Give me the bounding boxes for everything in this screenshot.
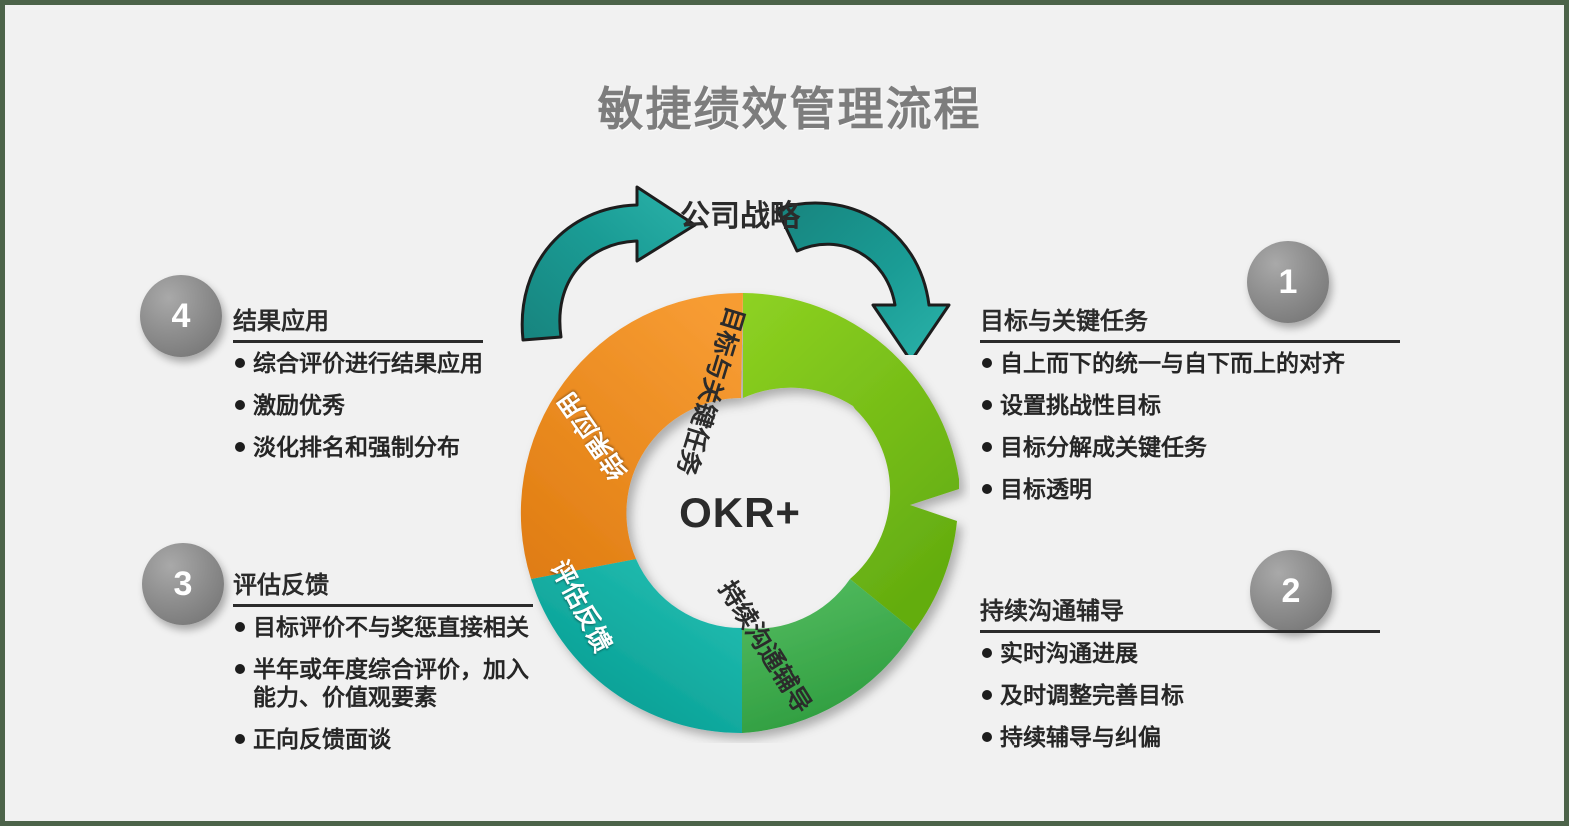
list-item: 设置挑战性目标 bbox=[980, 391, 1400, 419]
bullet-list-application: 综合评价进行结果应用 激励优秀 淡化排名和强制分布 bbox=[233, 349, 483, 461]
list-item: 实时沟通进展 bbox=[980, 639, 1380, 667]
list-item: 目标分解成关键任务 bbox=[980, 433, 1400, 461]
section-communication: 持续沟通辅导 实时沟通进展 及时调整完善目标 持续辅导与纠偏 bbox=[980, 591, 1380, 765]
list-item: 持续辅导与纠偏 bbox=[980, 723, 1380, 751]
bullet-list-communication: 实时沟通进展 及时调整完善目标 持续辅导与纠偏 bbox=[980, 639, 1380, 751]
slide-canvas: 敏捷绩效管理流程 bbox=[0, 0, 1569, 826]
bullet-list-objectives: 自上而下的统一与自下而上的对齐 设置挑战性目标 目标分解成关键任务 目标透明 bbox=[980, 349, 1400, 503]
section-heading-objectives: 目标与关键任务 bbox=[980, 301, 1400, 343]
strategy-label: 公司战略 bbox=[605, 191, 875, 235]
list-item: 自上而下的统一与自下而上的对齐 bbox=[980, 349, 1400, 377]
list-item: 目标评价不与奖惩直接相关 bbox=[233, 613, 533, 641]
section-application: 结果应用 综合评价进行结果应用 激励优秀 淡化排名和强制分布 bbox=[233, 301, 483, 475]
list-item: 淡化排名和强制分布 bbox=[233, 433, 483, 461]
list-item: 激励优秀 bbox=[233, 391, 483, 419]
step-number-badge-4: 4 bbox=[140, 275, 222, 357]
section-heading-evaluation: 评估反馈 bbox=[233, 565, 533, 607]
page-title: 敏捷绩效管理流程 bbox=[5, 73, 1569, 139]
section-evaluation: 评估反馈 目标评价不与奖惩直接相关 半年或年度综合评价，加入能力、价值观要素 正… bbox=[233, 565, 533, 767]
section-heading-application: 结果应用 bbox=[233, 301, 483, 343]
okr-cycle-wheel: OKR+ 目标与关键任务 持续沟通辅导 评估反馈 结果应用 bbox=[510, 283, 970, 743]
section-objectives: 目标与关键任务 自上而下的统一与自下而上的对齐 设置挑战性目标 目标分解成关键任… bbox=[980, 301, 1400, 517]
step-number-badge-3: 3 bbox=[142, 543, 224, 625]
list-item: 正向反馈面谈 bbox=[233, 725, 533, 753]
list-item: 目标透明 bbox=[980, 475, 1400, 503]
list-item: 综合评价进行结果应用 bbox=[233, 349, 483, 377]
wheel-segment-evaluation bbox=[531, 559, 742, 733]
wheel-segment-application bbox=[521, 293, 743, 579]
section-heading-communication: 持续沟通辅导 bbox=[980, 591, 1380, 633]
list-item: 及时调整完善目标 bbox=[980, 681, 1380, 709]
bullet-list-evaluation: 目标评价不与奖惩直接相关 半年或年度综合评价，加入能力、价值观要素 正向反馈面谈 bbox=[233, 613, 533, 753]
list-item: 半年或年度综合评价，加入能力、价值观要素 bbox=[233, 655, 533, 711]
